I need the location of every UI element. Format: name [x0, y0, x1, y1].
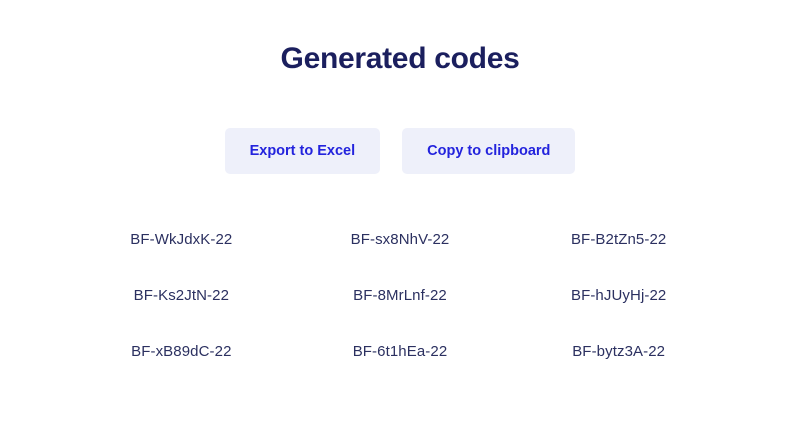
code-item: BF-xB89dC-22	[72, 341, 291, 363]
code-item: BF-Ks2JtN-22	[72, 285, 291, 307]
generated-codes-grid: BF-WkJdxK-22BF-sx8NhV-22BF-B2tZn5-22BF-K…	[0, 229, 800, 363]
code-item: BF-bytz3A-22	[509, 341, 728, 363]
code-item: BF-8MrLnf-22	[291, 285, 510, 307]
code-item: BF-sx8NhV-22	[291, 229, 510, 251]
code-item: BF-B2tZn5-22	[509, 229, 728, 251]
copy-to-clipboard-button[interactable]: Copy to clipboard	[402, 128, 575, 174]
generated-codes-page: Generated codes Export to Excel Copy to …	[0, 0, 800, 424]
export-to-excel-button[interactable]: Export to Excel	[225, 128, 381, 174]
action-button-row: Export to Excel Copy to clipboard	[0, 128, 800, 174]
code-item: BF-6t1hEa-22	[291, 341, 510, 363]
page-title: Generated codes	[0, 0, 800, 78]
code-item: BF-WkJdxK-22	[72, 229, 291, 251]
code-item: BF-hJUyHj-22	[509, 285, 728, 307]
